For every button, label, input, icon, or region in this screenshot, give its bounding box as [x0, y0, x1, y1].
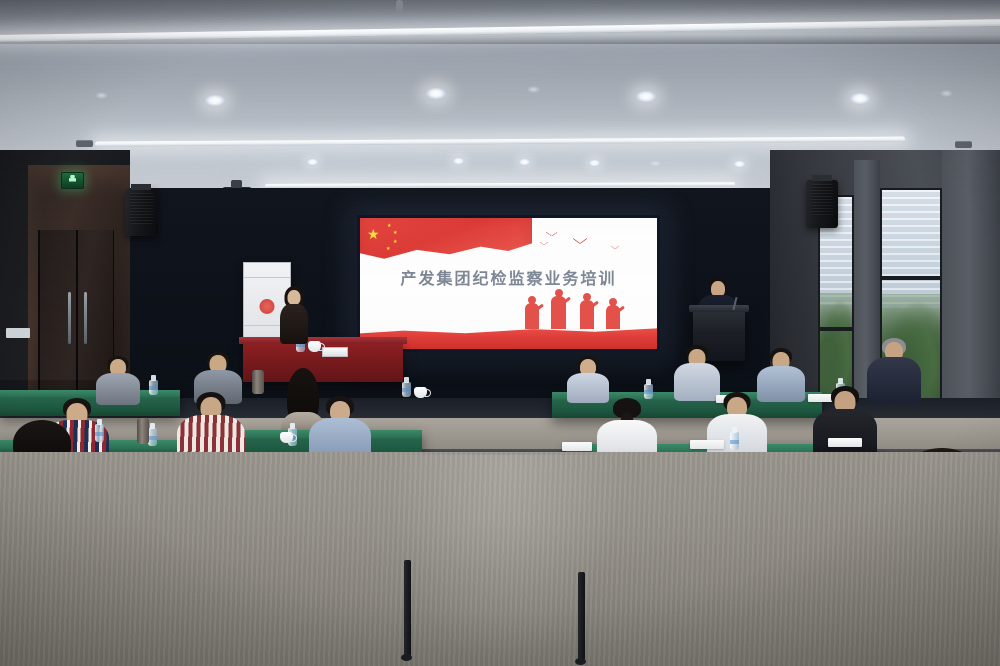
water-bottle[interactable] [644, 384, 653, 399]
handout-paper[interactable] [828, 438, 862, 447]
attendee [95, 356, 141, 402]
ceiling-downlight-dim [95, 92, 108, 99]
speaker-bracket [131, 184, 151, 190]
training-room-photo: ★ ★ ★ ★ ★ 产发集团纪检监察业务培训 [0, 0, 1000, 666]
ceiling-downlight [849, 92, 871, 105]
thermos-flask[interactable] [137, 418, 149, 444]
bird-group [538, 228, 639, 262]
building-view [882, 190, 940, 308]
flag-star-small: ★ [393, 240, 397, 245]
water-bottle[interactable] [149, 380, 158, 395]
ceiling-downlight [306, 158, 319, 166]
silhouette-figure [525, 303, 539, 329]
water-bottle[interactable] [402, 382, 411, 397]
door-handle[interactable] [84, 292, 87, 344]
salute-silhouette-group [520, 282, 639, 329]
handout-paper[interactable] [562, 442, 592, 451]
ceiling-downlight-dim [940, 90, 953, 97]
bird-icon [611, 245, 619, 250]
speaker-bracket [812, 175, 832, 181]
ceiling-downlight [204, 94, 226, 107]
flag-star-large: ★ [367, 227, 380, 241]
ceiling-vent [76, 140, 93, 147]
ceiling-downlight-dim [527, 86, 540, 93]
ceiling-light-strip [95, 137, 905, 147]
silhouette-figure [551, 296, 566, 329]
seated-presenter [279, 286, 309, 356]
tea-cup[interactable] [414, 387, 427, 398]
ceiling-vent [955, 141, 972, 148]
sprinkler-head [396, 0, 403, 12]
running-man-icon [69, 175, 76, 186]
screen-surface: ★ ★ ★ ★ ★ 产发集团纪检监察业务培训 [360, 218, 657, 349]
water-bottle[interactable] [148, 428, 157, 446]
ceiling-downlight [635, 90, 657, 103]
ceiling-downlight [425, 87, 447, 100]
flag-star-small: ★ [387, 224, 391, 229]
flag-star-small: ★ [386, 247, 390, 252]
silhouette-figure [580, 300, 594, 329]
window-mullion [820, 327, 852, 331]
attendee-ponytail [596, 398, 658, 460]
ceiling-downlight [733, 160, 746, 168]
aisle-highlight [390, 455, 620, 665]
bird-icon [573, 237, 587, 245]
desk-leg [578, 572, 585, 660]
silhouette-figure [606, 305, 620, 329]
exit-sign-icon [61, 172, 84, 189]
flipchart-red-dot [260, 299, 275, 314]
ceiling-downlight [588, 159, 601, 167]
bird-icon [540, 241, 548, 246]
name-plate [322, 347, 348, 357]
desk-leg [404, 560, 411, 656]
thermos-flask[interactable] [252, 370, 264, 394]
bird-icon [546, 231, 557, 237]
wall-speaker-right [806, 180, 838, 228]
door-handle[interactable] [68, 292, 71, 344]
projection-screen: ★ ★ ★ ★ ★ 产发集团纪检监察业务培训 [357, 215, 660, 352]
water-bottle[interactable] [730, 432, 739, 450]
ceiling-light-strip [265, 182, 735, 188]
handout-paper[interactable] [690, 440, 724, 449]
attendee [566, 356, 610, 400]
tea-cup[interactable] [280, 432, 293, 443]
ceiling-downlight-dim [649, 160, 662, 167]
ceiling-downlight [518, 158, 531, 166]
tea-cup[interactable] [308, 341, 321, 352]
wall-switch-plate[interactable] [6, 328, 30, 338]
flag-star-small: ★ [393, 231, 397, 236]
window-mullion [882, 276, 940, 280]
ceiling-downlight [452, 157, 465, 165]
wall-speaker-left [125, 189, 158, 236]
